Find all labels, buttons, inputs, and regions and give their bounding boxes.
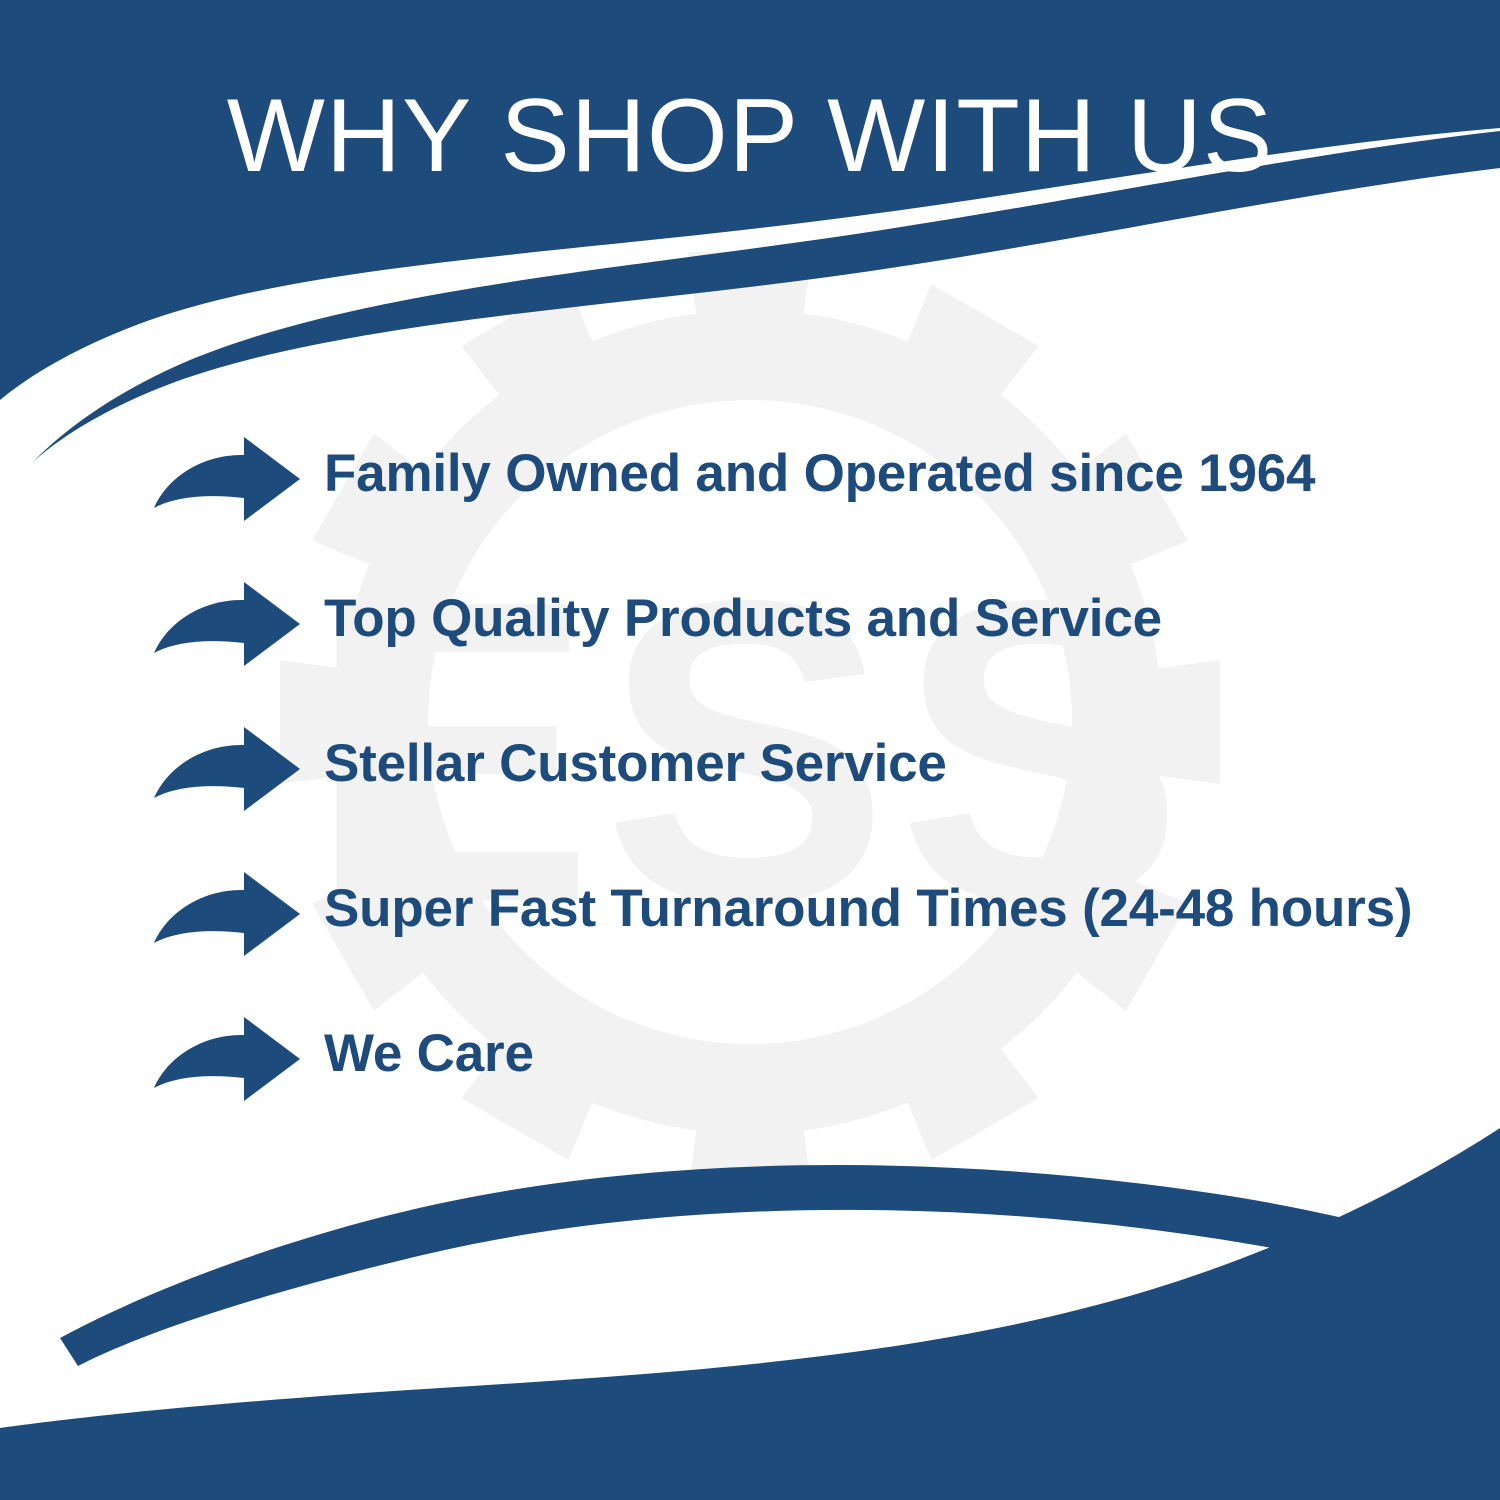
benefit-label: Stellar Customer Service <box>324 722 1500 806</box>
curved-arrow-right-icon <box>152 726 302 812</box>
top-wave-main <box>0 0 1500 400</box>
bottom-wave-accent <box>60 1165 1500 1366</box>
curved-arrow-right-icon <box>152 581 302 667</box>
list-item: Super Fast Turnaround Times (24-48 hours… <box>0 867 1500 1012</box>
list-item: We Care <box>0 1012 1500 1157</box>
benefits-list: Family Owned and Operated since 1964 Top… <box>0 432 1500 1157</box>
why-shop-with-us-poster: ESS WHY SHOP WITH US Family Owned and Op… <box>0 0 1500 1500</box>
curved-arrow-right-icon <box>152 1016 302 1102</box>
benefit-label: Top Quality Products and Service <box>324 577 1500 661</box>
bottom-wave-main <box>0 1128 1500 1500</box>
curved-arrow-right-icon <box>152 871 302 957</box>
benefit-label: We Care <box>324 1012 1500 1096</box>
list-item: Family Owned and Operated since 1964 <box>0 432 1500 577</box>
benefit-label: Super Fast Turnaround Times (24-48 hours… <box>324 867 1500 951</box>
page-title: WHY SHOP WITH US <box>0 84 1500 188</box>
curved-arrow-right-icon <box>152 436 302 522</box>
benefit-label: Family Owned and Operated since 1964 <box>324 432 1500 516</box>
list-item: Top Quality Products and Service <box>0 577 1500 722</box>
list-item: Stellar Customer Service <box>0 722 1500 867</box>
